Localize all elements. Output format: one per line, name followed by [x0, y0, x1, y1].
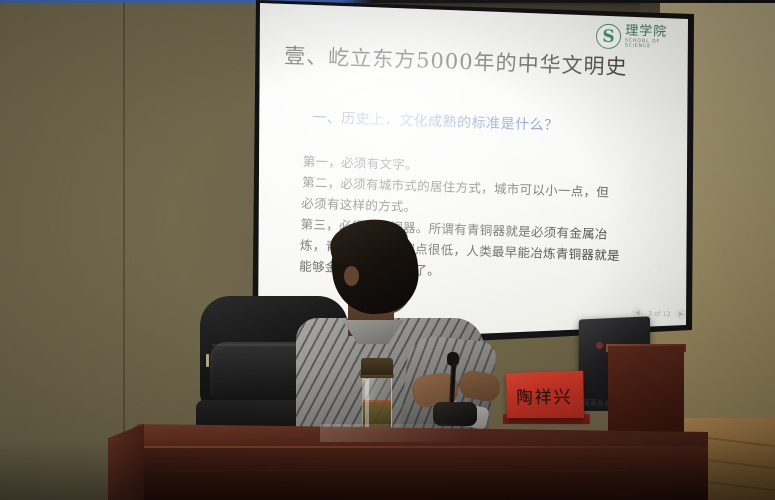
microphone-head: [447, 352, 459, 366]
laptop-logo-icon: [596, 342, 603, 349]
chevron-right-icon[interactable]: ▶: [676, 309, 687, 320]
table-reflection: [320, 424, 500, 442]
wall-seam: [123, 3, 125, 500]
slide-subtitle: 一、历史上，文化成熟的标准是什么？: [312, 107, 642, 138]
logo-name-en: SCHOOL OF SCIENCE: [625, 40, 688, 51]
nameplate: 陶祥兴: [506, 371, 584, 418]
slide-title: 壹、屹立东方5000年的中华文明史: [284, 40, 615, 81]
logo-circle-icon: S: [596, 23, 622, 49]
microphone-base: [433, 402, 477, 426]
table-lower-panel: [150, 470, 630, 500]
logo-name-cn: 理学院: [625, 25, 688, 40]
chair-tag: [206, 354, 209, 367]
thermos-lid: [361, 358, 393, 375]
desk-microphone: [433, 352, 477, 424]
logo-s-mark: S: [602, 26, 615, 46]
lecture-scene: 壹、屹立东方5000年的中华文明史 一、历史上，文化成熟的标准是什么？ 第一，必…: [0, 0, 775, 500]
logo-text: 理学院 SCHOOL OF SCIENCE: [625, 25, 688, 51]
school-logo: S 理学院 SCHOOL OF SCIENCE: [596, 23, 688, 51]
speaker-ear: [344, 266, 359, 286]
nameplate-text: 陶祥兴: [516, 382, 573, 408]
page-indicator-text: 3 of 12: [648, 309, 671, 318]
